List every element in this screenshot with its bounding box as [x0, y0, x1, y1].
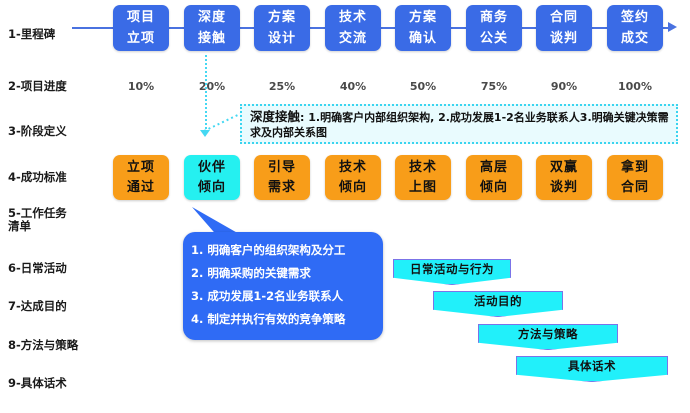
banner-label: 具体话术 [516, 358, 668, 374]
milestone-box-5[interactable]: 方案 确认 [395, 5, 451, 51]
milestone-box-1[interactable]: 项目 立项 [113, 5, 169, 51]
success-criteria-box-1[interactable]: 立项 通过 [113, 155, 169, 200]
milestone-box-6[interactable]: 商务 公关 [466, 5, 522, 51]
progress-value-7: 90% [536, 80, 592, 93]
success-criteria-box-2[interactable]: 伙伴 倾向 [184, 155, 240, 200]
row-label-method-strategy: 8-方法与策略 [8, 339, 78, 352]
progress-value-5: 50% [395, 80, 451, 93]
progress-value-8: 100% [607, 80, 663, 93]
milestone-box-4[interactable]: 技术 交流 [325, 5, 381, 51]
row-label-milestone: 1-里程碑 [8, 28, 55, 41]
stage-definition-callout: 深度接触: 1.明确客户内部组织架构, 2.成功发展1-2名业务联系人3.明确关… [240, 104, 678, 144]
success-criteria-box-8[interactable]: 拿到 合同 [607, 155, 663, 200]
success-criteria-box-7[interactable]: 双赢 谈判 [536, 155, 592, 200]
milestone-box-8[interactable]: 签约 成交 [607, 5, 663, 51]
milestone-box-7[interactable]: 合同 谈判 [536, 5, 592, 51]
task-item-2: 2. 明确采购的关键需求 [191, 262, 379, 285]
progress-value-3: 25% [254, 80, 310, 93]
row-label-success-criteria: 4-成功标准 [8, 171, 67, 184]
progress-value-2: 20% [184, 80, 240, 93]
progress-value-4: 40% [325, 80, 381, 93]
task-item-4: 4. 制定并执行有效的竞争策略 [191, 308, 379, 331]
stage-definition-text: : 1.明确客户内部组织架构, 2.成功发展1-2名业务联系人3.明确关键决策需… [250, 111, 669, 139]
progress-value-1: 10% [113, 80, 169, 93]
banner-script[interactable]: 具体话术 [516, 356, 668, 382]
row-label-stage-definition: 3-阶段定义 [8, 125, 67, 138]
banner-label: 日常活动与行为 [393, 261, 511, 277]
task-item-3: 3. 成功发展1-2名业务联系人 [191, 285, 379, 308]
row-label-daily-activity: 6-日常活动 [8, 262, 67, 275]
progress-value-6: 75% [466, 80, 522, 93]
task-list-callout[interactable]: 1. 明确客户的组织架构及分工 2. 明确采购的关键需求 3. 成功发展1-2名… [183, 232, 383, 340]
sales-process-diagram: 1-里程碑 2-项目进度 3-阶段定义 4-成功标准 5-工作任务 清单 6-日… [0, 0, 690, 413]
stage-connector-diagonal [203, 112, 243, 132]
stage-definition-title: 深度接触 [250, 109, 300, 124]
banner-method-strategy[interactable]: 方法与策略 [478, 324, 618, 350]
row-label-task-list: 5-工作任务 清单 [8, 207, 67, 233]
timeline-arrow-icon [668, 22, 677, 32]
banner-label: 活动目的 [433, 293, 563, 309]
success-criteria-box-6[interactable]: 高层 倾向 [466, 155, 522, 200]
row-label-goal: 7-达成目的 [8, 300, 67, 313]
row-label-progress: 2-项目进度 [8, 80, 67, 93]
success-criteria-box-4[interactable]: 技术 倾向 [325, 155, 381, 200]
row-label-script: 9-具体话术 [8, 377, 67, 390]
task-item-1: 1. 明确客户的组织架构及分工 [191, 239, 379, 262]
success-criteria-box-3[interactable]: 引导 需求 [254, 155, 310, 200]
success-criteria-box-5[interactable]: 技术 上图 [395, 155, 451, 200]
banner-daily-activity[interactable]: 日常活动与行为 [393, 259, 511, 285]
milestone-box-2[interactable]: 深度 接触 [184, 5, 240, 51]
milestone-box-3[interactable]: 方案 设计 [254, 5, 310, 51]
banner-activity-goal[interactable]: 活动目的 [433, 291, 563, 317]
banner-label: 方法与策略 [478, 326, 618, 342]
